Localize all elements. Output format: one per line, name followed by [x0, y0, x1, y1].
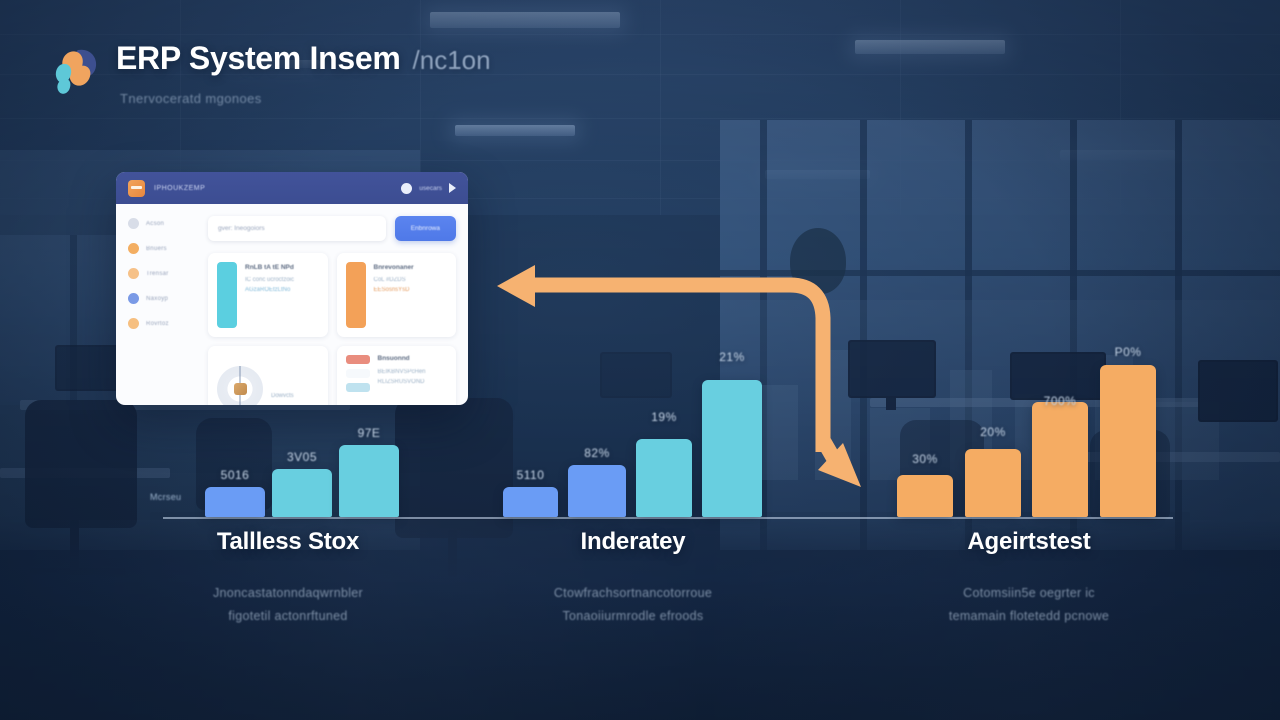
bar-label-g2-b2: 700%: [1032, 394, 1088, 408]
bar-g2-b2: [1032, 402, 1088, 517]
section-body: Jnoncastatonndaqwrnbler figotetil actonr…: [123, 582, 453, 628]
bar-label-g0-b1: 3V05: [272, 450, 332, 464]
section-line: figotetil actonrftuned: [123, 605, 453, 628]
section-heading: Inderatey: [468, 528, 798, 556]
section-heading: Ageirtstest: [864, 528, 1194, 556]
bar-g0-b2: [339, 445, 399, 517]
section-0: Tallless Stox Jnoncastatonndaqwrnbler fi…: [123, 528, 453, 628]
section-heading: Tallless Stox: [123, 528, 453, 556]
section-line: temamain flotetedd pcnowe: [864, 605, 1194, 628]
bar-label-g2-b3: P0%: [1100, 345, 1156, 359]
bar-g2-b0: [897, 475, 953, 517]
bar-g0-b0: [205, 487, 265, 517]
section-body: Cotomsiin5e oegrter ic temamain floteted…: [864, 582, 1194, 628]
section-2: Ageirtstest Cotomsiin5e oegrter ic temam…: [864, 528, 1194, 628]
bar-g2-b3: [1100, 365, 1156, 517]
axis-note: Mcrseu: [150, 492, 181, 502]
bar-label-g0-b0: 5016: [205, 468, 265, 482]
bar-label-g2-b1: 20%: [965, 425, 1021, 439]
bar-label-g1-b0: 5110: [503, 468, 558, 482]
bar-g1-b1: [568, 465, 626, 517]
section-line: Cotomsiin5e oegrter ic: [864, 582, 1194, 605]
section-line: Jnoncastatonndaqwrnbler: [123, 582, 453, 605]
chart-baseline: [163, 517, 1173, 519]
section-line: Tonaoiiurmrodle efroods: [468, 605, 798, 628]
bar-label-g1-b2: 19%: [636, 410, 692, 424]
section-line: Ctowfrachsortnancotorroue: [468, 582, 798, 605]
bar-label-g1-b1: 82%: [568, 446, 626, 460]
bar-g1-b2: [636, 439, 692, 517]
bar-g1-b3: [702, 380, 762, 517]
section-1: Inderatey Ctowfrachsortnancotorroue Tona…: [468, 528, 798, 628]
bar-g1-b0: [503, 487, 558, 517]
bar-g0-b1: [272, 469, 332, 517]
slide-canvas: ERP System Insem /nc1on Tnervoceratd mgo…: [0, 0, 1280, 720]
bar-g2-b1: [965, 449, 1021, 517]
bar-label-g0-b2: 97E: [339, 426, 399, 440]
bar-label-g1-b3: 21%: [702, 350, 762, 364]
section-body: Ctowfrachsortnancotorroue Tonaoiiurmrodl…: [468, 582, 798, 628]
bar-label-g2-b0: 30%: [897, 452, 953, 466]
